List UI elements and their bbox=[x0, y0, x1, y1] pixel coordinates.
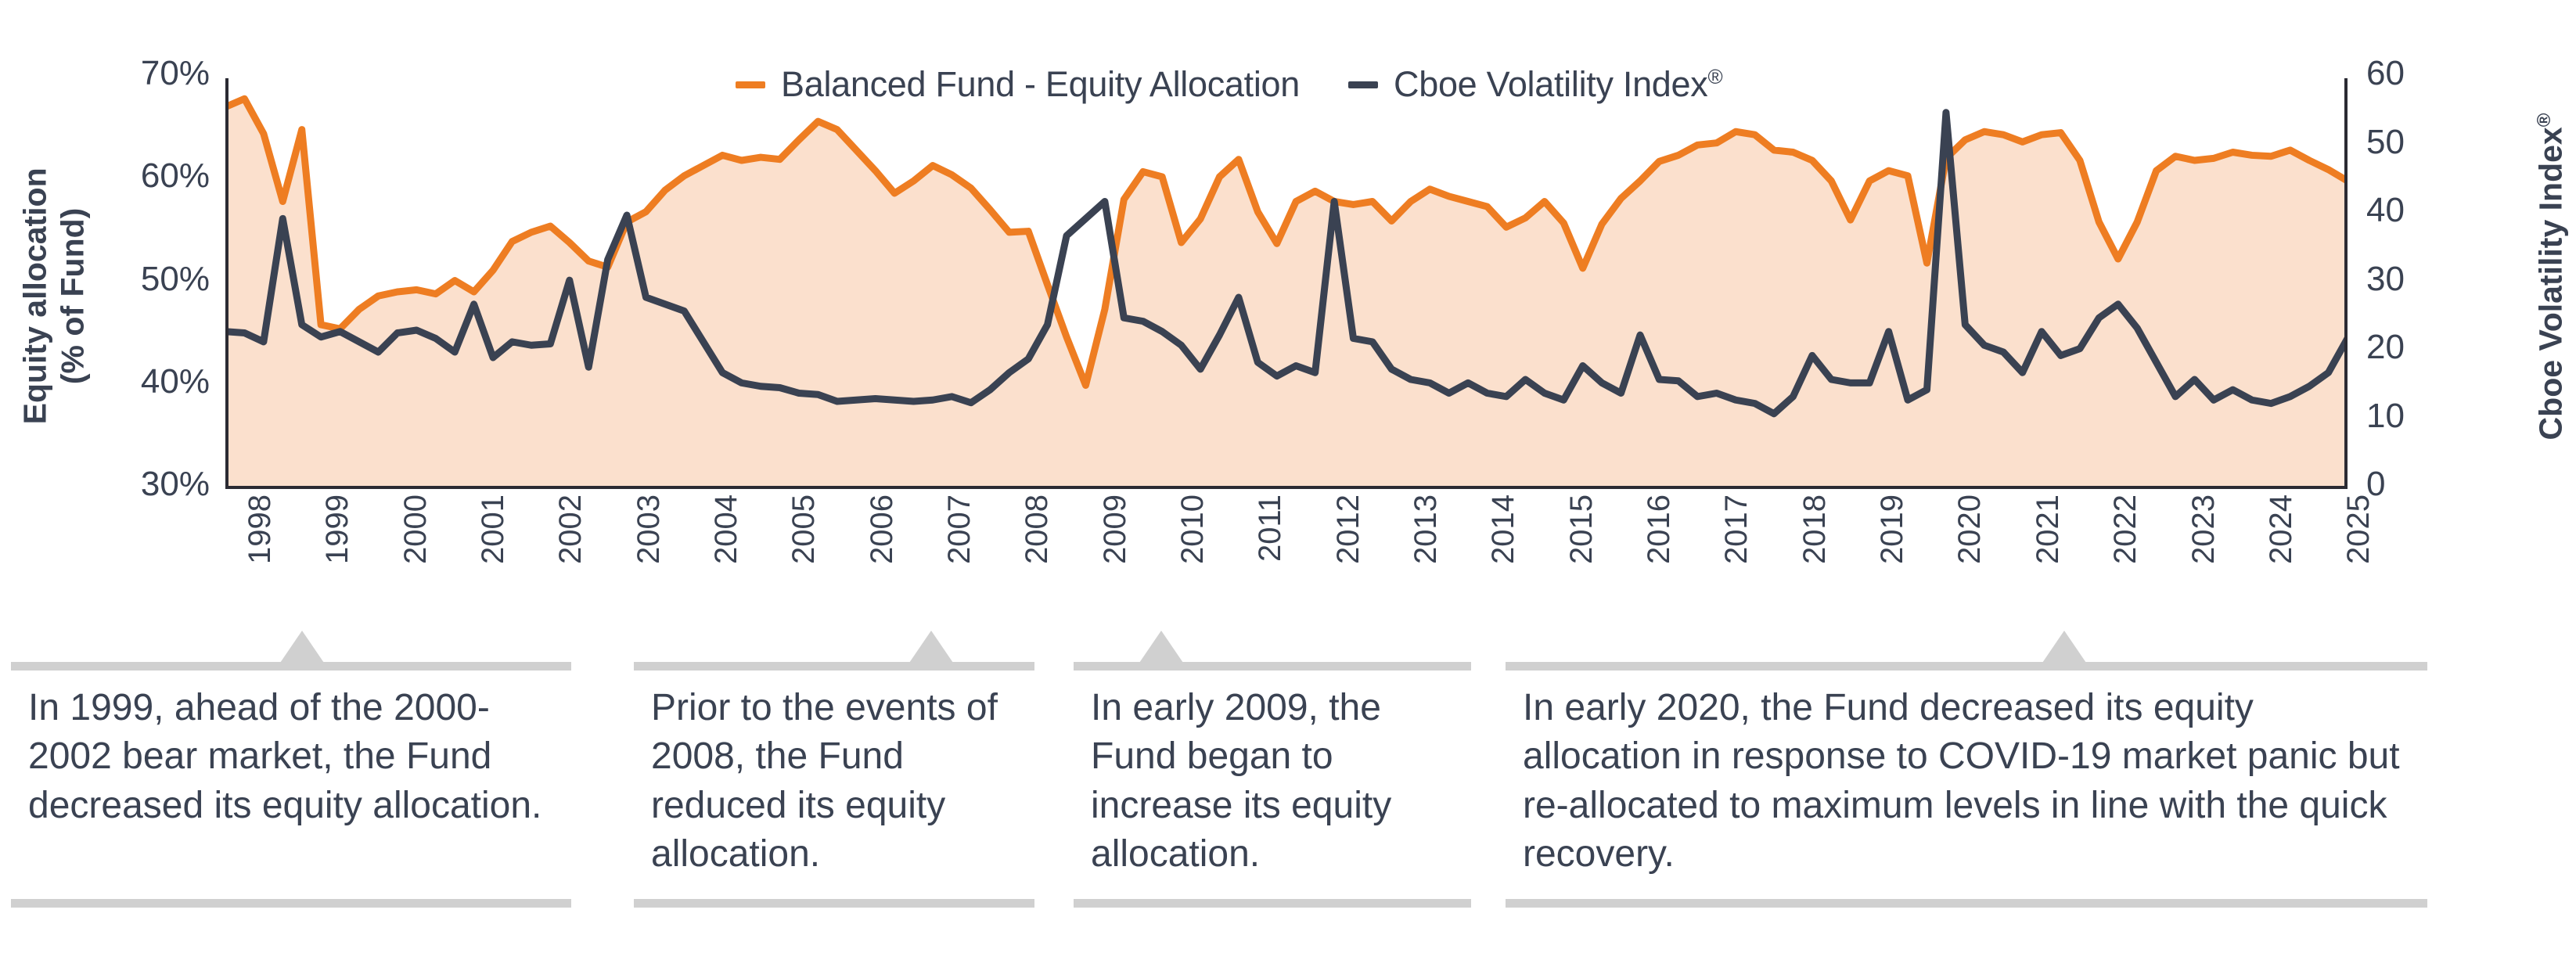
callout-bottom-rule bbox=[1506, 899, 2427, 908]
callout-pointer-icon bbox=[1138, 631, 1185, 665]
x-axis-tick-2025: 2025 bbox=[2341, 494, 2376, 564]
y-axis-left-title-line1: Equity allocation bbox=[16, 167, 54, 425]
x-axis-tick-2004: 2004 bbox=[709, 494, 744, 564]
annotation-callout-2: Prior to the events of 2008, the Fund re… bbox=[634, 634, 1034, 908]
annotation-callout-1: In 1999, ahead of the 2000-2002 bear mar… bbox=[11, 634, 571, 908]
x-axis-tick-1999: 1999 bbox=[320, 494, 355, 564]
x-axis-tick-2011: 2011 bbox=[1253, 494, 1288, 562]
x-axis-tick-2012: 2012 bbox=[1331, 494, 1366, 564]
callout-top-rule bbox=[1506, 662, 2427, 671]
callout-top-rule bbox=[11, 662, 571, 671]
y-axis-left-tick: 60% bbox=[117, 156, 210, 196]
y-axis-left-title-line2: (% of Fund) bbox=[54, 167, 92, 425]
callout-text: In early 2009, the Fund began to increas… bbox=[1091, 684, 1463, 879]
x-axis-tick-2005: 2005 bbox=[786, 494, 822, 564]
callout-text: Prior to the events of 2008, the Fund re… bbox=[651, 684, 1027, 879]
x-axis-tick-2023: 2023 bbox=[2186, 494, 2222, 564]
chart-svg bbox=[225, 78, 2348, 489]
x-axis-labels: 1998199920002001200220032004200520062007… bbox=[225, 494, 2348, 612]
x-axis-tick-2021: 2021 bbox=[2031, 494, 2066, 564]
y-axis-left-tick: 30% bbox=[117, 465, 210, 504]
x-axis-tick-2010: 2010 bbox=[1175, 494, 1211, 564]
y-axis-right-tick: 20 bbox=[2366, 328, 2405, 367]
equity-allocation-area bbox=[225, 99, 2348, 489]
callout-top-rule bbox=[634, 662, 1034, 671]
y-axis-right-tick: 50 bbox=[2366, 123, 2405, 162]
registered-mark-icon: ® bbox=[2534, 113, 2555, 128]
y-axis-left-tick: 70% bbox=[117, 54, 210, 93]
y-axis-left-tick: 40% bbox=[117, 362, 210, 401]
x-axis-tick-2001: 2001 bbox=[476, 494, 511, 564]
annotation-callout-3: In early 2009, the Fund began to increas… bbox=[1074, 634, 1471, 908]
y-axis-right-title: Cboe Volatility Index® bbox=[2533, 113, 2570, 441]
x-axis-tick-2024: 2024 bbox=[2264, 494, 2299, 564]
x-axis-tick-2020: 2020 bbox=[1952, 494, 1988, 564]
y-axis-right-title-text: Cboe Volatility Index bbox=[2533, 127, 2569, 440]
callout-pointer-icon bbox=[2041, 631, 2088, 665]
y-axis-right-tick: 60 bbox=[2366, 54, 2405, 93]
x-axis-tick-2019: 2019 bbox=[1875, 494, 1910, 564]
x-axis-tick-2022: 2022 bbox=[2108, 494, 2143, 564]
callout-text: In 1999, ahead of the 2000-2002 bear mar… bbox=[28, 684, 563, 830]
x-axis-tick-2016: 2016 bbox=[1642, 494, 1677, 564]
y-axis-right-tick: 10 bbox=[2366, 397, 2405, 436]
x-axis-tick-2006: 2006 bbox=[865, 494, 900, 564]
x-axis-tick-2009: 2009 bbox=[1098, 494, 1133, 564]
x-axis-tick-2002: 2002 bbox=[553, 494, 588, 564]
y-axis-left-title: Equity allocation (% of Fund) bbox=[16, 167, 92, 425]
callout-text: In early 2020, the Fund decreased its eq… bbox=[1523, 684, 2419, 879]
callout-bottom-rule bbox=[1074, 899, 1471, 908]
callout-bottom-rule bbox=[634, 899, 1034, 908]
x-axis-tick-1998: 1998 bbox=[243, 494, 278, 564]
y-axis-right-tick: 30 bbox=[2366, 260, 2405, 299]
x-axis-tick-2017: 2017 bbox=[1719, 494, 1754, 564]
callout-top-rule bbox=[1074, 662, 1471, 671]
x-axis-tick-2008: 2008 bbox=[1020, 494, 1055, 564]
x-axis-tick-2007: 2007 bbox=[942, 494, 977, 564]
x-axis-tick-2018: 2018 bbox=[1797, 494, 1833, 564]
callout-bottom-rule bbox=[11, 899, 571, 908]
x-axis-tick-2000: 2000 bbox=[398, 494, 434, 564]
x-axis-tick-2013: 2013 bbox=[1409, 494, 1444, 564]
chart-page: Balanced Fund - Equity Allocation Cboe V… bbox=[0, 0, 2576, 978]
callout-pointer-icon bbox=[908, 631, 955, 665]
x-axis-tick-2014: 2014 bbox=[1486, 494, 1521, 564]
chart-plot-area bbox=[225, 78, 2348, 489]
y-axis-left-tick: 50% bbox=[117, 260, 210, 299]
x-axis-tick-2015: 2015 bbox=[1564, 494, 1599, 564]
callout-pointer-icon bbox=[279, 631, 326, 665]
y-axis-right-tick: 40 bbox=[2366, 191, 2405, 230]
annotation-callout-4: In early 2020, the Fund decreased its eq… bbox=[1506, 634, 2427, 908]
x-axis-tick-2003: 2003 bbox=[631, 494, 667, 564]
annotation-callouts: In 1999, ahead of the 2000-2002 bear mar… bbox=[0, 634, 2576, 915]
